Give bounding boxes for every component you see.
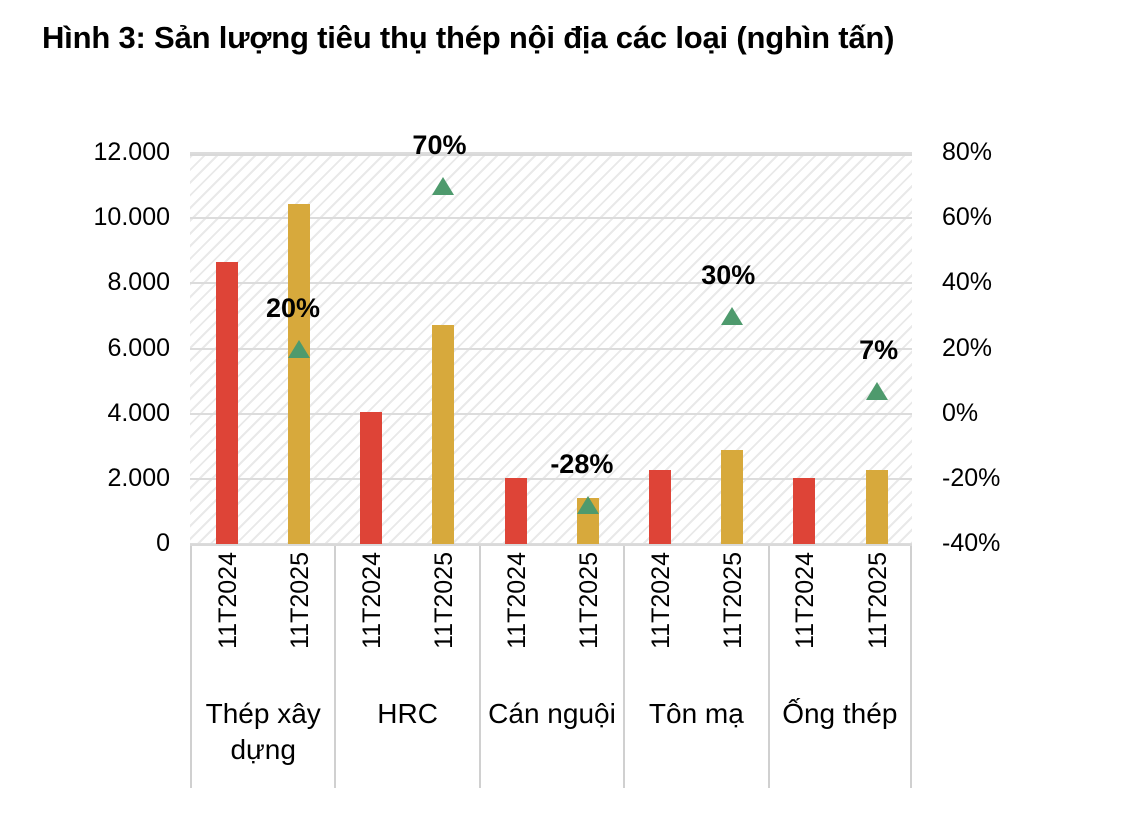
left-value-axis: 12.00010.0008.0006.0004.0002.0000 [10,0,170,826]
growth-marker-thep-xay-dung[interactable] [288,340,310,358]
series-tick-hrc-2025: 11T2025 [432,552,457,649]
growth-label-ong-thep: 7% [859,337,898,364]
figure-container: Hình 3: Sản lượng tiêu thụ thép nội địa … [0,0,1144,826]
right-axis-tick-label: 40% [942,270,1122,295]
category-axis: 11T202411T2025Thép xây dựng11T202411T202… [190,546,912,788]
left-axis-tick-label: 12.000 [10,140,170,165]
series-tick-group: 11T202411T2025 [625,546,767,686]
category-cell-hrc: 11T202411T2025HRC [334,546,478,788]
series-tick-ton-ma-2025: 11T2025 [721,552,746,649]
bar-ton-ma-2024[interactable] [649,470,671,544]
left-axis-tick-label: 2.000 [10,466,170,491]
series-tick-group: 11T202411T2025 [770,546,910,686]
category-label-ong-thep: Ống thép [770,696,910,732]
category-cell-thep-xay-dung: 11T202411T2025Thép xây dựng [190,546,334,788]
right-axis-tick-label: -40% [942,531,1122,556]
growth-marker-ong-thep[interactable] [866,382,888,400]
category-label-ton-ma: Tôn mạ [625,696,767,732]
right-axis-tick-label: 80% [942,140,1122,165]
right-axis-tick-label: 20% [942,336,1122,361]
series-tick-thep-xay-dung-2025: 11T2025 [288,552,313,649]
growth-marker-hrc[interactable] [432,177,454,195]
series-tick-group: 11T202411T2025 [336,546,478,686]
category-label-can-nguoi: Cán nguội [481,696,623,732]
right-axis-tick-label: -20% [942,466,1122,491]
bar-ong-thep-2025[interactable] [866,470,888,544]
bar-hrc-2024[interactable] [360,412,382,544]
category-cell-ton-ma: 11T202411T2025Tôn mạ [623,546,767,788]
category-label-thep-xay-dung: Thép xây dựng [192,696,334,768]
growth-label-thep-xay-dung: 20% [266,295,320,322]
series-tick-thep-xay-dung-2024: 11T2024 [216,552,241,649]
left-axis-tick-label: 0 [10,531,170,556]
growth-label-hrc: 70% [412,132,466,159]
left-axis-tick-label: 8.000 [10,270,170,295]
plot-area [190,153,912,544]
bar-ong-thep-2024[interactable] [793,478,815,544]
left-axis-tick-label: 10.000 [10,205,170,230]
growth-label-ton-ma: 30% [701,262,755,289]
series-tick-can-nguoi-2024: 11T2024 [505,552,530,649]
page-title: Hình 3: Sản lượng tiêu thụ thép nội địa … [42,18,1042,59]
growth-marker-can-nguoi[interactable] [577,496,599,514]
series-tick-ong-thep-2025: 11T2025 [866,552,891,649]
bar-thep-xay-dung-2025[interactable] [288,204,310,544]
category-cell-can-nguoi: 11T202411T2025Cán nguội [479,546,623,788]
growth-label-can-nguoi: -28% [550,451,613,478]
left-axis-tick-label: 6.000 [10,336,170,361]
series-tick-can-nguoi-2025: 11T2025 [577,552,602,649]
series-tick-ong-thep-2024: 11T2024 [793,552,818,649]
series-tick-group: 11T202411T2025 [481,546,623,686]
left-axis-tick-label: 4.000 [10,401,170,426]
bar-hrc-2025[interactable] [432,325,454,544]
series-tick-hrc-2024: 11T2024 [360,552,385,649]
category-label-hrc: HRC [336,696,478,732]
series-tick-ton-ma-2024: 11T2024 [649,552,674,649]
bar-thep-xay-dung-2024[interactable] [216,262,238,544]
right-axis-tick-label: 60% [942,205,1122,230]
bar-ton-ma-2025[interactable] [721,450,743,544]
category-cell-ong-thep: 11T202411T2025Ống thép [768,546,912,788]
series-tick-group: 11T202411T2025 [192,546,334,686]
bar-can-nguoi-2024[interactable] [505,478,527,544]
right-percent-axis: 80%60%40%20%0%-20%-40% [942,0,1132,826]
growth-marker-ton-ma[interactable] [721,307,743,325]
gridline [190,152,912,154]
right-axis-tick-label: 0% [942,401,1122,426]
